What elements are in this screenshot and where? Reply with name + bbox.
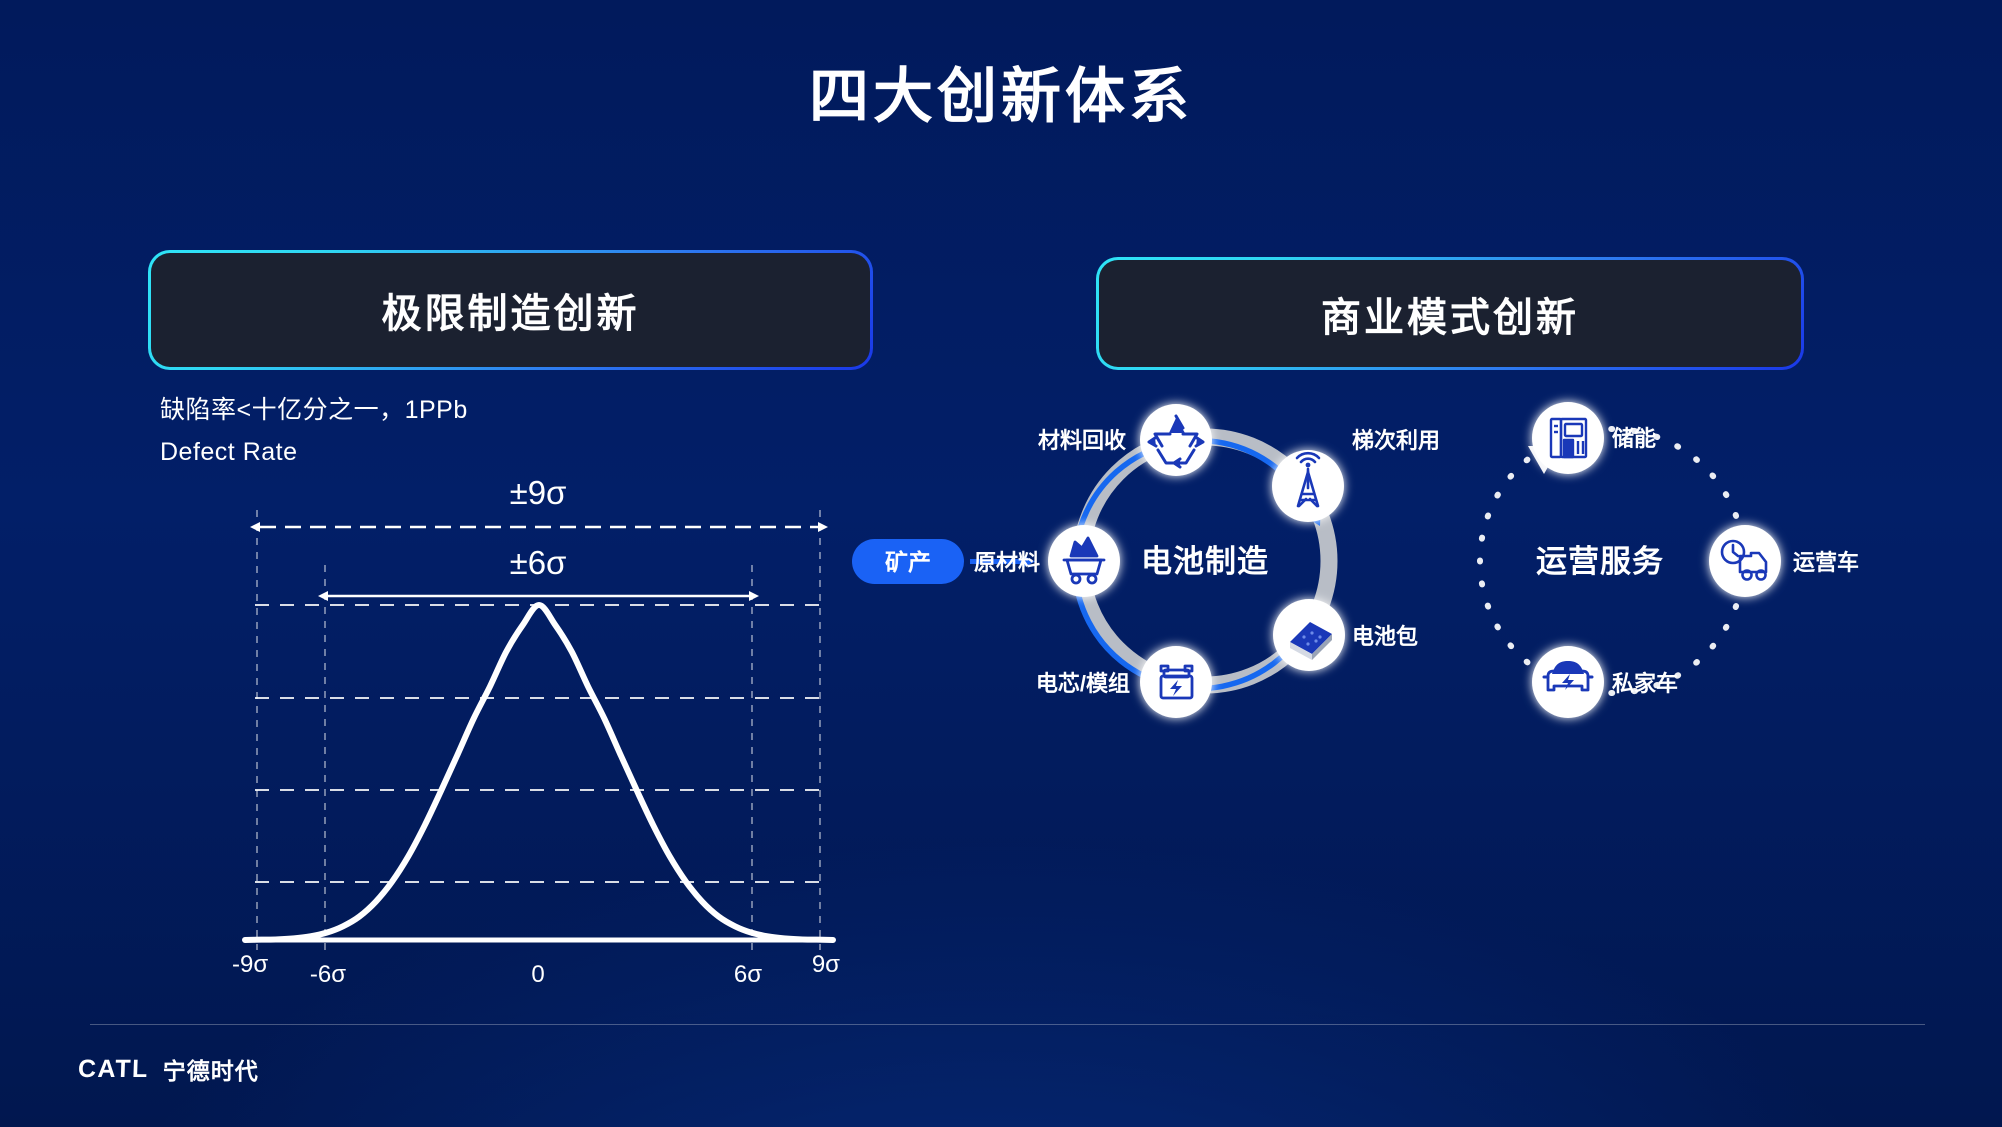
card-title-right: 商业模式创新 [1321, 285, 1579, 343]
battery-lifecycle-diagram: 矿产 电池制造 [900, 490, 1960, 910]
page-title: 四大创新体系 [0, 48, 2002, 135]
x-tick-label-2: 0 [531, 961, 544, 988]
chart-gridlines-y [255, 605, 825, 940]
card-inner: 商业模式创新 [1099, 260, 1801, 367]
x-tick-label-1: -6σ [310, 961, 346, 988]
source-pill-label: 矿产 [885, 549, 931, 575]
node-material-recycling[interactable] [1140, 404, 1212, 476]
node-label-cell-module: 电芯/模组 [1036, 671, 1130, 696]
defect-rate-en: Defect Rate [160, 438, 298, 467]
footer-logo: CATL 宁德时代 [78, 1052, 259, 1086]
section-card-business-model[interactable]: 商业模式创新 [1096, 257, 1804, 370]
node-label-battery-pack: 电池包 [1352, 624, 1418, 649]
node-cell-module[interactable] [1140, 646, 1212, 718]
x-tick-label-4: 9σ [812, 951, 840, 978]
node-label-energy-storage: 储能 [1612, 426, 1656, 451]
annotation-label-9sigma: ±9σ [510, 474, 567, 511]
right-cycle-center-label: 运营服务 [1536, 544, 1664, 579]
normal-distribution-curve [245, 605, 833, 940]
x-tick-label-0: -9σ [232, 951, 268, 978]
slide-root: 四大创新体系 极限制造创新 缺陷率<十亿分之一，1PPb Defect Rate [0, 0, 2002, 1127]
node-label-cascade-utilization: 梯次利用 [1352, 428, 1440, 453]
section-card-extreme-manufacturing[interactable]: 极限制造创新 [148, 250, 873, 370]
card-inner: 极限制造创新 [151, 253, 870, 367]
node-operating-vehicle[interactable] [1709, 525, 1781, 597]
logo-text-cn: 宁德时代 [163, 1052, 259, 1086]
bell-curve-chart: ±9σ ±6σ -9σ -6σ 0 6σ 9σ [200, 470, 840, 1010]
node-label-raw-material: 原材料 [974, 550, 1040, 575]
source-pill-mineral[interactable]: 矿产 [852, 539, 964, 584]
footer-divider [90, 1024, 1925, 1025]
annotation-label-6sigma: ±6σ [510, 544, 567, 581]
node-energy-storage[interactable] [1532, 402, 1604, 474]
defect-rate-cn: 缺陷率<十亿分之一，1PPb [160, 390, 468, 426]
chart-svg: ±9σ ±6σ -9σ -6σ 0 6σ 9σ [200, 470, 840, 1010]
logo-text-en: CATL [77, 1055, 149, 1084]
left-cycle-center-label: 电池制造 [1141, 544, 1269, 579]
node-label-private-car: 私家车 [1612, 671, 1678, 696]
node-battery-pack[interactable] [1273, 599, 1345, 671]
card-title-left: 极限制造创新 [382, 281, 640, 339]
node-raw-material[interactable] [1048, 525, 1120, 597]
node-private-car[interactable] [1532, 646, 1604, 718]
x-tick-label-3: 6σ [734, 961, 762, 988]
node-cascade-utilization[interactable] [1272, 450, 1344, 522]
node-label-material-recycling: 材料回收 [1038, 428, 1126, 453]
node-label-operating-vehicle: 运营车 [1793, 550, 1859, 575]
diagram-svg: 矿产 电池制造 [900, 490, 1960, 910]
